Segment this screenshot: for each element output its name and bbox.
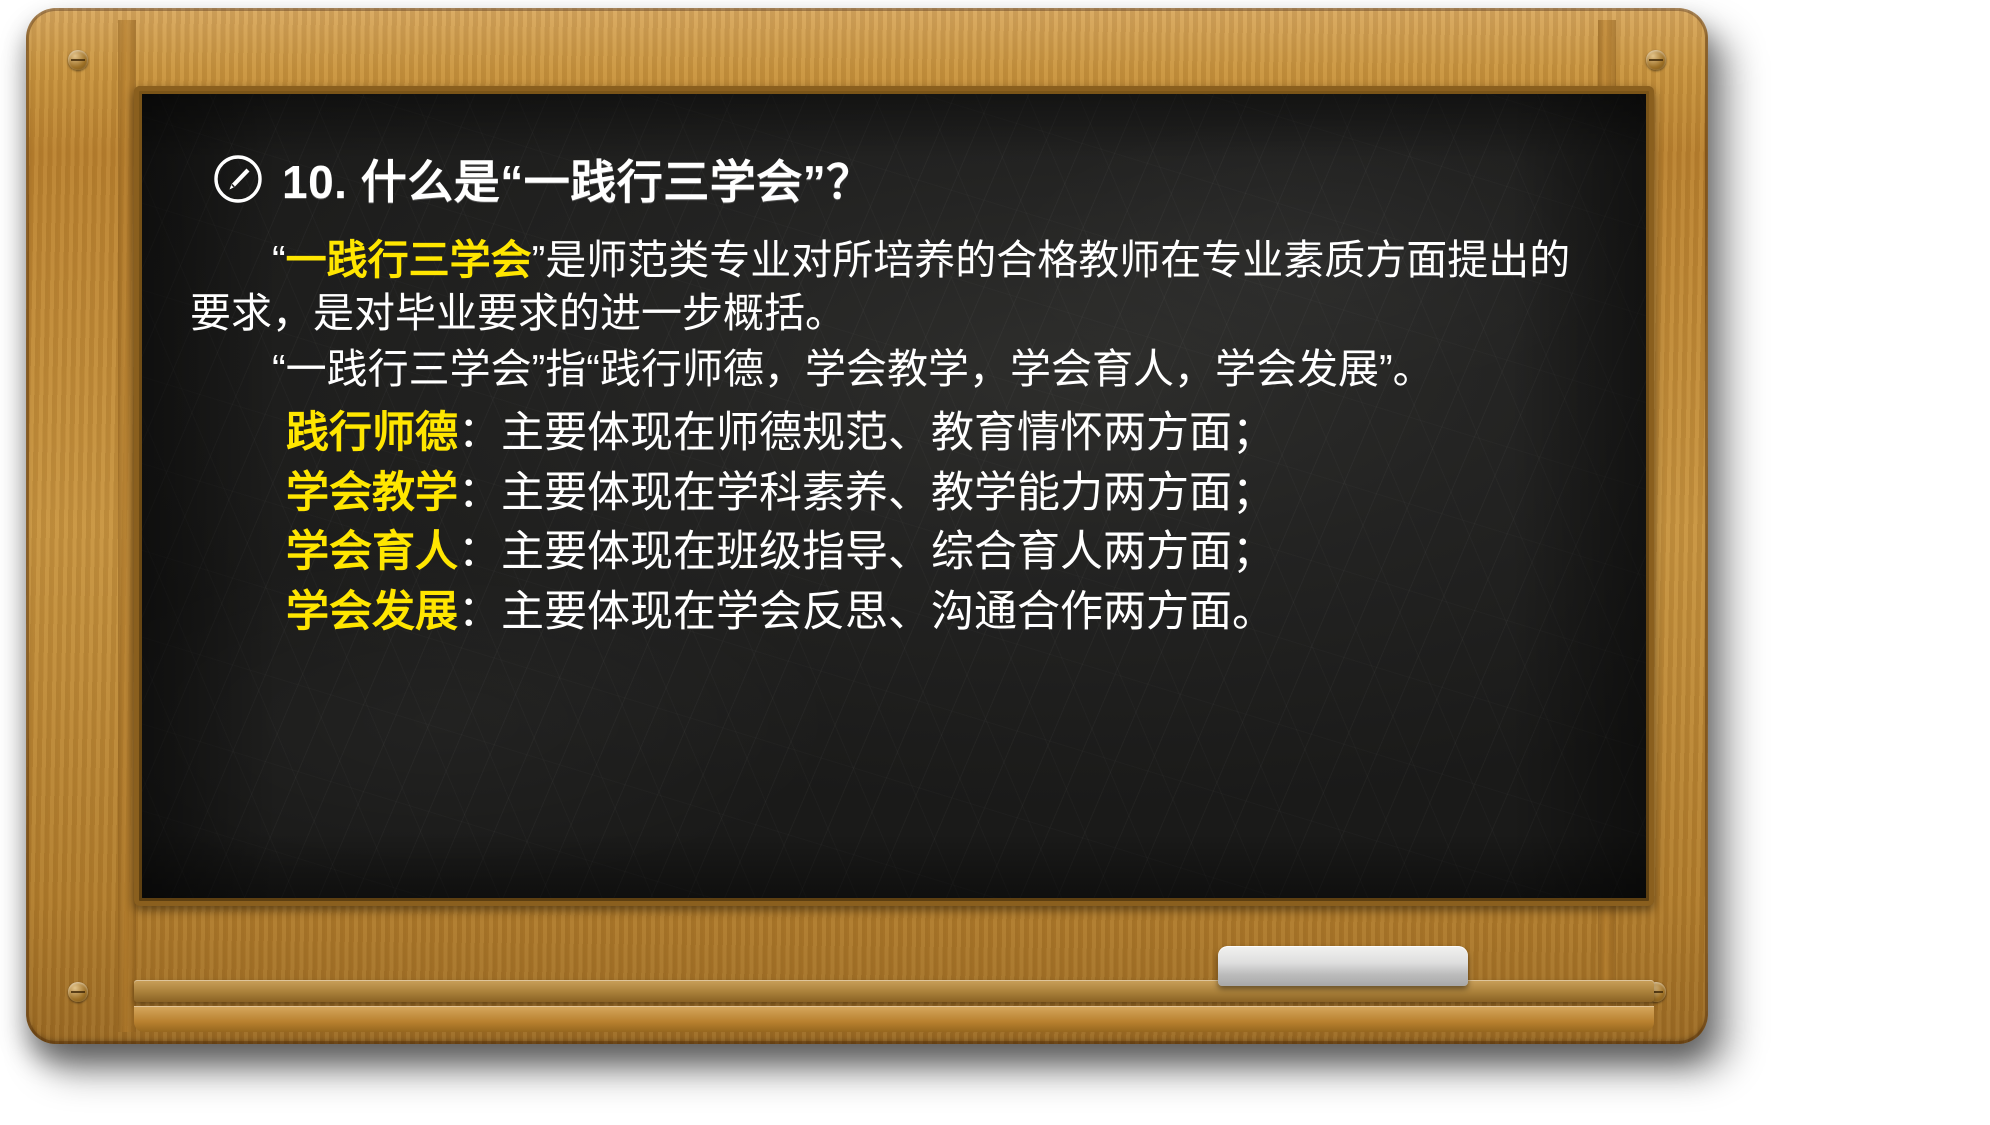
- pencil-circle-icon: [212, 153, 264, 205]
- slide-title: 10. 什么是“一践行三学会”？: [282, 146, 873, 212]
- list-item-sep: ：: [458, 528, 501, 576]
- slide-stage: 10. 什么是“一践行三学会”？ “一践行三学会”是师范类专业对所培养的合格教师…: [0, 0, 1990, 1125]
- paragraph-definition: “一践行三学会”是师范类专业对所培养的合格教师在专业素质方面提出的要求，是对毕业…: [190, 234, 1594, 341]
- list-item: 践行师德：主要体现在师德规范、教育情怀两方面；: [190, 406, 1594, 461]
- frame-bottom-rail: [134, 1006, 1654, 1032]
- list-item: 学会教学：主要体现在学科素养、教学能力两方面；: [190, 466, 1594, 521]
- paragraph-expansion: “一践行三学会”指“践行师德，学会教学，学会育人，学会发展”。: [190, 343, 1594, 396]
- list-item-key: 学会发展: [286, 588, 458, 636]
- slide-title-row: 10. 什么是“一践行三学会”？: [212, 146, 1602, 212]
- list-item-key: 学会教学: [286, 469, 458, 517]
- competency-list: 践行师德：主要体现在师德规范、教育情怀两方面； 学会教学：主要体现在学科素养、教…: [190, 406, 1594, 639]
- screw-bottom-left: [68, 982, 88, 1002]
- list-item-sep: ：: [458, 469, 501, 517]
- highlight-term: 一践行三学会: [286, 237, 532, 283]
- quote-open: “: [272, 237, 286, 283]
- list-item-key: 学会育人: [286, 528, 458, 576]
- list-item-value: 主要体现在班级指导、综合育人两方面；: [501, 528, 1275, 576]
- list-item-sep: ：: [458, 409, 501, 457]
- screw-top-left: [68, 50, 88, 70]
- list-item: 学会育人：主要体现在班级指导、综合育人两方面；: [190, 525, 1594, 580]
- list-item: 学会发展：主要体现在学会反思、沟通合作两方面。: [190, 585, 1594, 640]
- slide-body: “一践行三学会”是师范类专业对所培养的合格教师在专业素质方面提出的要求，是对毕业…: [190, 234, 1594, 639]
- wooden-frame: 10. 什么是“一践行三学会”？ “一践行三学会”是师范类专业对所培养的合格教师…: [26, 8, 1708, 1044]
- list-item-value: 主要体现在学科素养、教学能力两方面；: [501, 469, 1275, 517]
- quote-close: ”: [532, 237, 546, 283]
- list-item-key: 践行师德: [286, 409, 458, 457]
- chalkboard-surface: 10. 什么是“一践行三学会”？ “一践行三学会”是师范类专业对所培养的合格教师…: [142, 94, 1646, 898]
- chalk-eraser: [1218, 946, 1468, 986]
- list-item-value: 主要体现在学会反思、沟通合作两方面。: [501, 588, 1275, 636]
- list-item-value: 主要体现在师德规范、教育情怀两方面；: [501, 409, 1275, 457]
- slide-content: 10. 什么是“一践行三学会”？ “一践行三学会”是师范类专业对所培养的合格教师…: [142, 94, 1646, 898]
- screw-top-right: [1646, 50, 1666, 70]
- list-item-sep: ：: [458, 588, 501, 636]
